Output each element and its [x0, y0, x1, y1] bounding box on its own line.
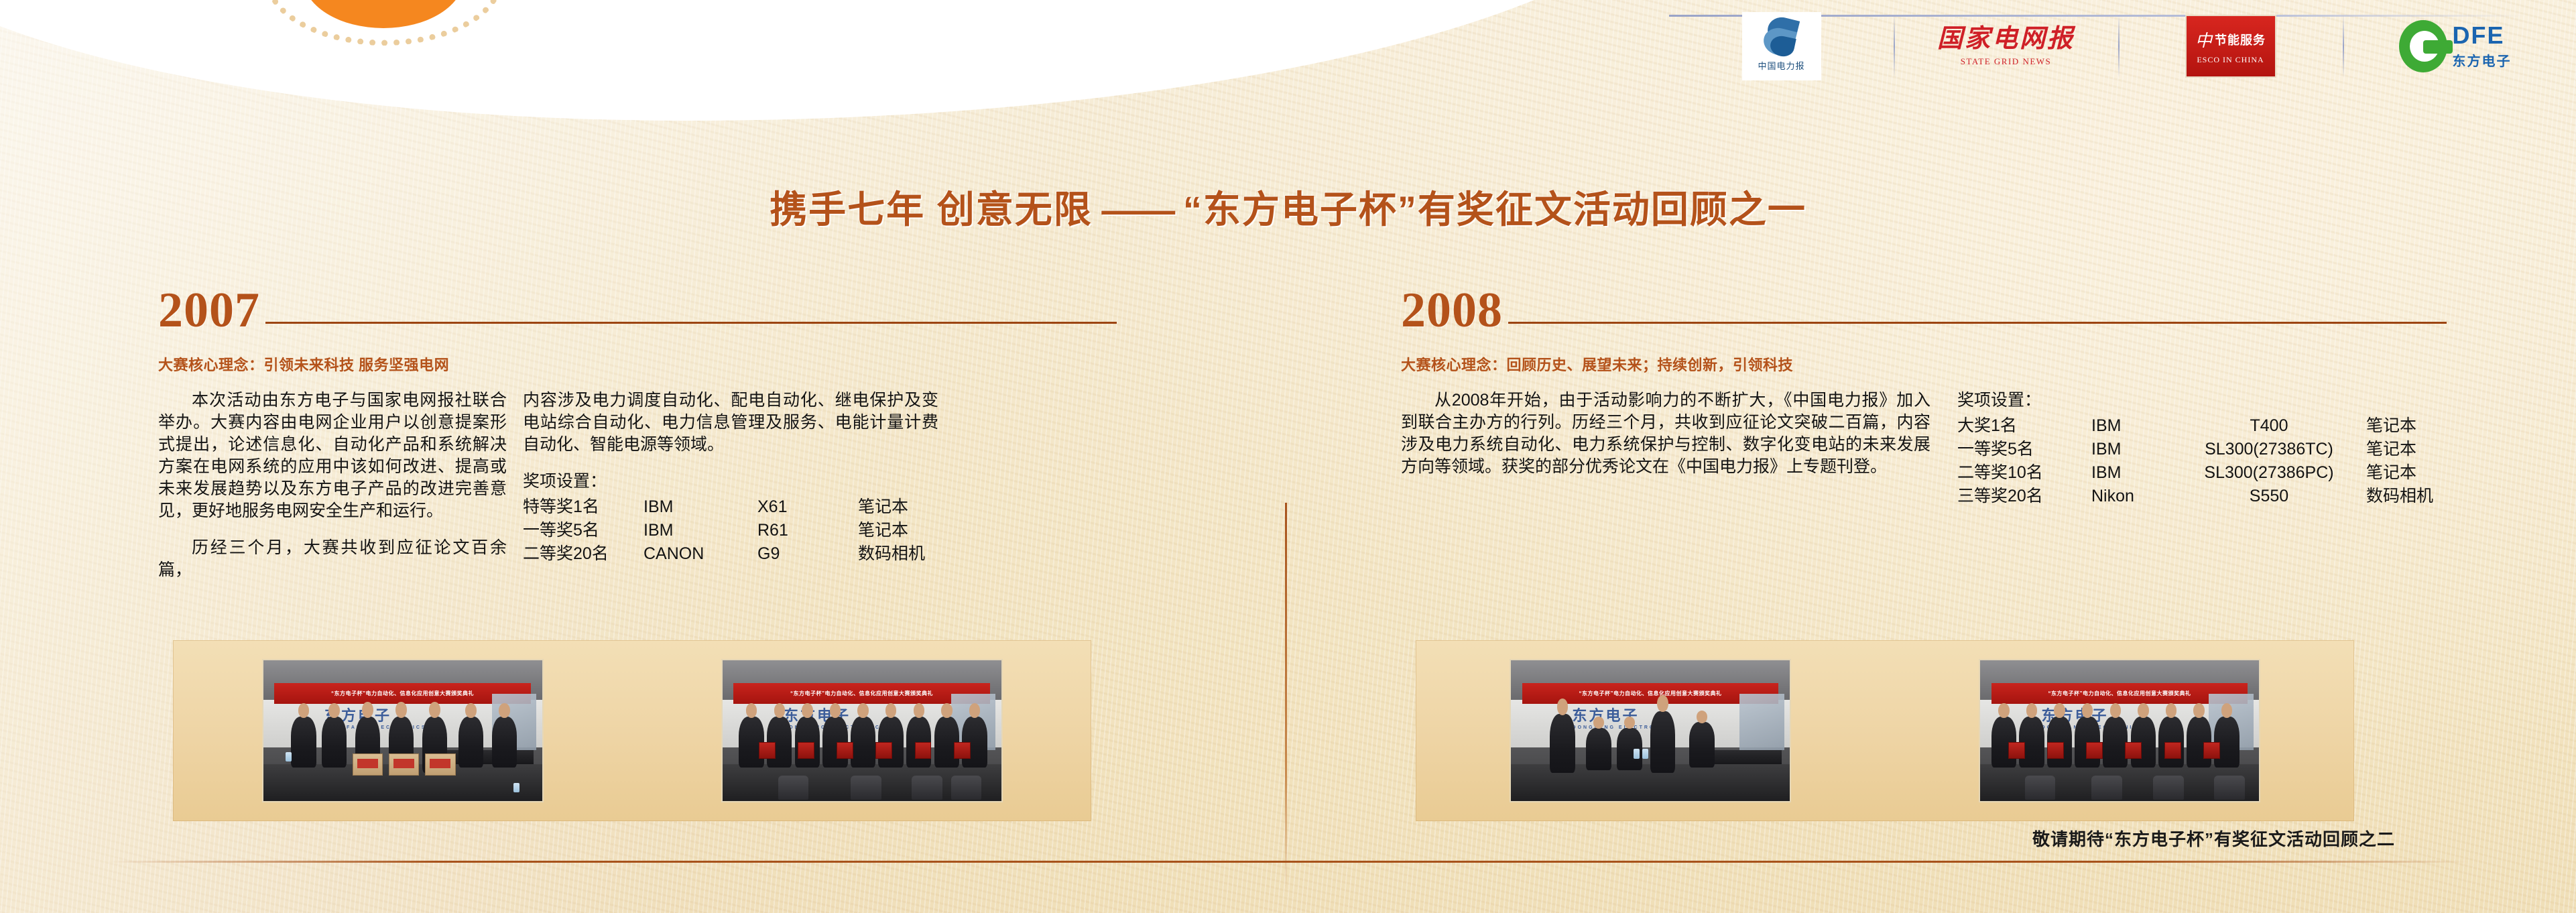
award-level: 特等奖1名: [523, 495, 643, 519]
award-model: T400: [2172, 414, 2366, 438]
award-prize: 数码相机: [858, 542, 925, 566]
award-brand: IBM: [2091, 461, 2172, 485]
award-prize: 数码相机: [2366, 485, 2433, 508]
year-2008-column-right: 奖项设置： 大奖1名 IBM T400 笔记本 一等奖5名 IBM SL300(…: [1957, 389, 2447, 508]
award-level: 三等奖20名: [1957, 485, 2091, 508]
year-rule-2007: [265, 322, 1117, 324]
award-model: SL300(27386PC): [2172, 461, 2366, 485]
logo-state-grid-news: 国家电网报 STATE GRID NEWS: [1894, 11, 2118, 82]
section-divider: [1285, 503, 1287, 892]
award-ceremony-photo: “东方电子杯”电力自动化、信息化应用创意大赛颁奖典礼 东方电子 DONGFANG…: [262, 659, 544, 802]
award-ceremony-photo: “东方电子杯”电力自动化、信息化应用创意大赛颁奖典礼 东方电子 DONGFANG…: [721, 659, 1003, 802]
logo-china-electric-power-news: 中国电力报: [1669, 11, 1894, 82]
award-prize: 笔记本: [858, 519, 925, 542]
award-brand: IBM: [643, 519, 757, 542]
award-brand: CANON: [643, 542, 757, 566]
table-row: 一等奖5名 IBM R61 笔记本: [523, 519, 925, 542]
award-model: SL300(27386TC): [2172, 438, 2366, 461]
table-row: 三等奖20名 Nikon S550 数码相机: [1957, 485, 2433, 508]
award-prize: 笔记本: [2366, 414, 2433, 438]
footer-divider: [107, 861, 2469, 863]
year-header-2008: 2008: [1401, 288, 2447, 333]
award-level: 二等奖10名: [1957, 461, 2091, 485]
year-header-2007: 2007: [158, 288, 1117, 333]
year-motto-2007: 大赛核心理念：引领未来科技 服务坚强电网: [158, 353, 1117, 375]
poster-background: 中国电力报 国家电网报 STATE GRID NEWS 中 节能服务 ESCO …: [0, 0, 2576, 913]
paragraph: 内容涉及电力调度自动化、配电自动化、继电保护及变电站综合自动化、电力信息管理及服…: [523, 389, 938, 456]
year-number-2008: 2008: [1401, 288, 1503, 333]
esco-label-cn: 节能服务: [2215, 31, 2266, 48]
year-motto-2008: 大赛核心理念：回顾历史、展望未来；持续创新，引领科技: [1401, 353, 2447, 375]
table-row: 大奖1名 IBM T400 笔记本: [1957, 414, 2433, 438]
year-section-2008: 2008 大赛核心理念：回顾历史、展望未来；持续创新，引领科技 从2008年开始…: [1401, 288, 2447, 508]
page-title-sub: “东方电子杯”有奖征文活动回顾之一: [1183, 188, 1806, 231]
table-row: 二等奖20名 CANON G9 数码相机: [523, 542, 925, 566]
dfe-leaf-icon: [2399, 20, 2447, 72]
footer-note: 敬请期待“东方电子杯”有奖征文活动回顾之二: [2032, 826, 2395, 851]
award-brand: Nikon: [2091, 485, 2172, 508]
sgn-label-cn: 国家电网报: [1937, 26, 2075, 52]
esco-zhong-glyph: 中: [2195, 27, 2212, 52]
sponsor-logo-bar: 中国电力报 国家电网报 STATE GRID NEWS 中 节能服务 ESCO …: [1669, 11, 2567, 82]
esco-label-en: ESCO IN CHINA: [2197, 55, 2264, 65]
white-swoosh: [0, 0, 1696, 121]
cepn-mark-icon: [1761, 16, 1802, 58]
year-rule-2008: [1508, 322, 2447, 324]
table-row: 特等奖1名 IBM X61 笔记本: [523, 495, 925, 519]
awards-title-2007: 奖项设置：: [523, 471, 938, 493]
awards-table-2007: 特等奖1名 IBM X61 笔记本 一等奖5名 IBM R61 笔记本: [523, 495, 925, 566]
year-section-2007: 2007 大赛核心理念：引领未来科技 服务坚强电网 本次活动由东方电子与国家电网…: [158, 288, 1117, 596]
year-number-2007: 2007: [158, 288, 260, 333]
awards-title-2008: 奖项设置：: [1957, 389, 2447, 412]
award-model: G9: [757, 542, 858, 566]
dfe-abbr: DFE: [2453, 23, 2512, 48]
award-prize: 笔记本: [2366, 438, 2433, 461]
table-row: 二等奖10名 IBM SL300(27386PC) 笔记本: [1957, 461, 2433, 485]
award-brand: IBM: [2091, 414, 2172, 438]
award-ceremony-photo: “东方电子杯”电力自动化、信息化应用创意大赛颁奖典礼 东方电子 DONGFANG…: [1510, 659, 1791, 802]
award-model: S550: [2172, 485, 2366, 508]
paragraph: 从2008年开始，由于活动影响力的不断扩大，《中国电力报》加入到联合主办方的行列…: [1401, 389, 1930, 478]
photo-strip-2007: “东方电子杯”电力自动化、信息化应用创意大赛颁奖典礼 东方电子 DONGFANG…: [173, 640, 1091, 821]
dfe-label-cn: 东方电子: [2453, 50, 2512, 70]
award-prize: 笔记本: [2366, 461, 2433, 485]
award-brand: IBM: [643, 495, 757, 519]
award-level: 一等奖5名: [1957, 438, 2091, 461]
paragraph: 本次活动由东方电子与国家电网报社联合举办。大赛内容由电网企业用户以创意提案形式提…: [158, 389, 507, 522]
awards-table-2008: 大奖1名 IBM T400 笔记本 一等奖5名 IBM SL300(27386T…: [1957, 414, 2433, 508]
cepn-label: 中国电力报: [1758, 59, 1804, 72]
award-model: R61: [757, 519, 858, 542]
logo-dongfang-electronics: DFE 东方电子: [2343, 11, 2567, 82]
page-title-main: 携手七年 创意无限: [770, 188, 1093, 231]
award-ceremony-photo: “东方电子杯”电力自动化、信息化应用创意大赛颁奖典礼 东方电子 DONGFANG…: [1979, 659, 2260, 802]
logo-esco-in-china: 中 节能服务 ESCO IN CHINA: [2118, 11, 2343, 82]
photo-strip-2008: “东方电子杯”电力自动化、信息化应用创意大赛颁奖典礼 东方电子 DONGFANG…: [1416, 640, 2354, 821]
award-brand: IBM: [2091, 438, 2172, 461]
year-2007-column-right: 内容涉及电力调度自动化、配电自动化、继电保护及变电站综合自动化、电力信息管理及服…: [523, 389, 938, 596]
award-level: 一等奖5名: [523, 519, 643, 542]
page-title: 携手七年 创意无限 —— “东方电子杯”有奖征文活动回顾之一: [0, 180, 2576, 234]
sgn-label-en: STATE GRID NEWS: [1937, 56, 2075, 67]
paragraph: 历经三个月，大赛共收到应征论文百余篇，: [158, 537, 507, 581]
page-title-dash: ——: [1093, 188, 1183, 231]
award-prize: 笔记本: [858, 495, 925, 519]
table-row: 一等奖5名 IBM SL300(27386TC) 笔记本: [1957, 438, 2433, 461]
year-2008-column-left: 从2008年开始，由于活动影响力的不断扩大，《中国电力报》加入到联合主办方的行列…: [1401, 389, 1930, 508]
award-level: 大奖1名: [1957, 414, 2091, 438]
year-2007-column-left: 本次活动由东方电子与国家电网报社联合举办。大赛内容由电网企业用户以创意提案形式提…: [158, 389, 507, 596]
award-model: X61: [757, 495, 858, 519]
award-level: 二等奖20名: [523, 542, 643, 566]
